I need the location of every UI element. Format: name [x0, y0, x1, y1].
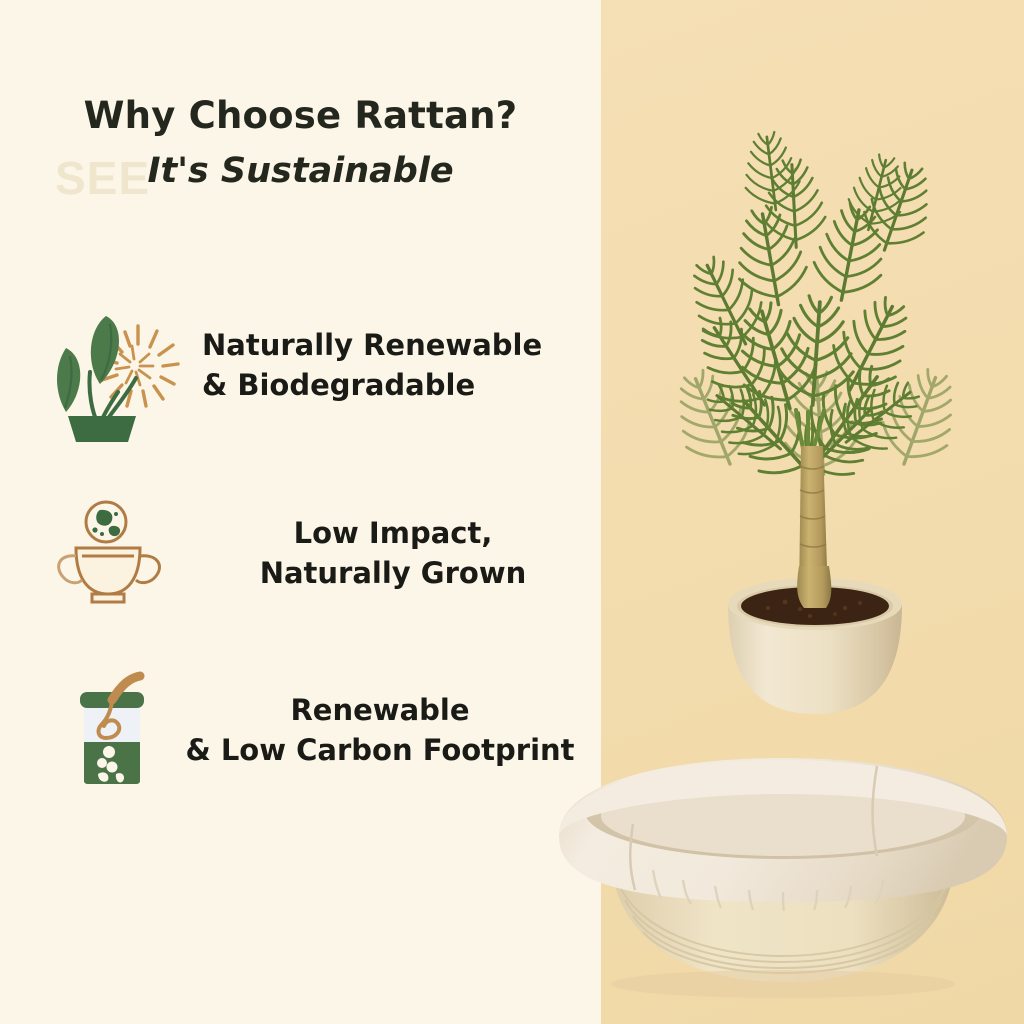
plant-foliage-image — [612, 34, 1016, 474]
feature-text-3: Renewable & Low Carbon Footprint — [178, 690, 582, 770]
tumbler-straw-icon — [72, 670, 172, 790]
ceramic-planter-image — [700, 446, 930, 716]
rattan-banneton-basket-image — [541, 752, 1024, 1002]
feature-text-1: Naturally Renewable & Biodegradable — [202, 325, 542, 405]
feature-row-2: Low Impact, Naturally Grown — [60, 500, 580, 606]
potted-plant-dandelion-icon — [60, 300, 178, 430]
feature-text-2: Low Impact, Naturally Grown — [206, 513, 580, 593]
headline-line-1: Why Choose Rattan? — [0, 94, 601, 137]
headline-block: Why Choose Rattan? It's Sustainable — [0, 94, 601, 191]
feature-row-1: Naturally Renewable & Biodegradable — [60, 300, 580, 430]
feature-row-3: Renewable & Low Carbon Footprint — [72, 670, 582, 790]
teacup-globe-icon — [60, 500, 172, 606]
product-infographic: SEE Why Choose Rattan? It's Sustainable — [0, 0, 1024, 1024]
headline-line-2: It's Sustainable — [0, 151, 601, 191]
